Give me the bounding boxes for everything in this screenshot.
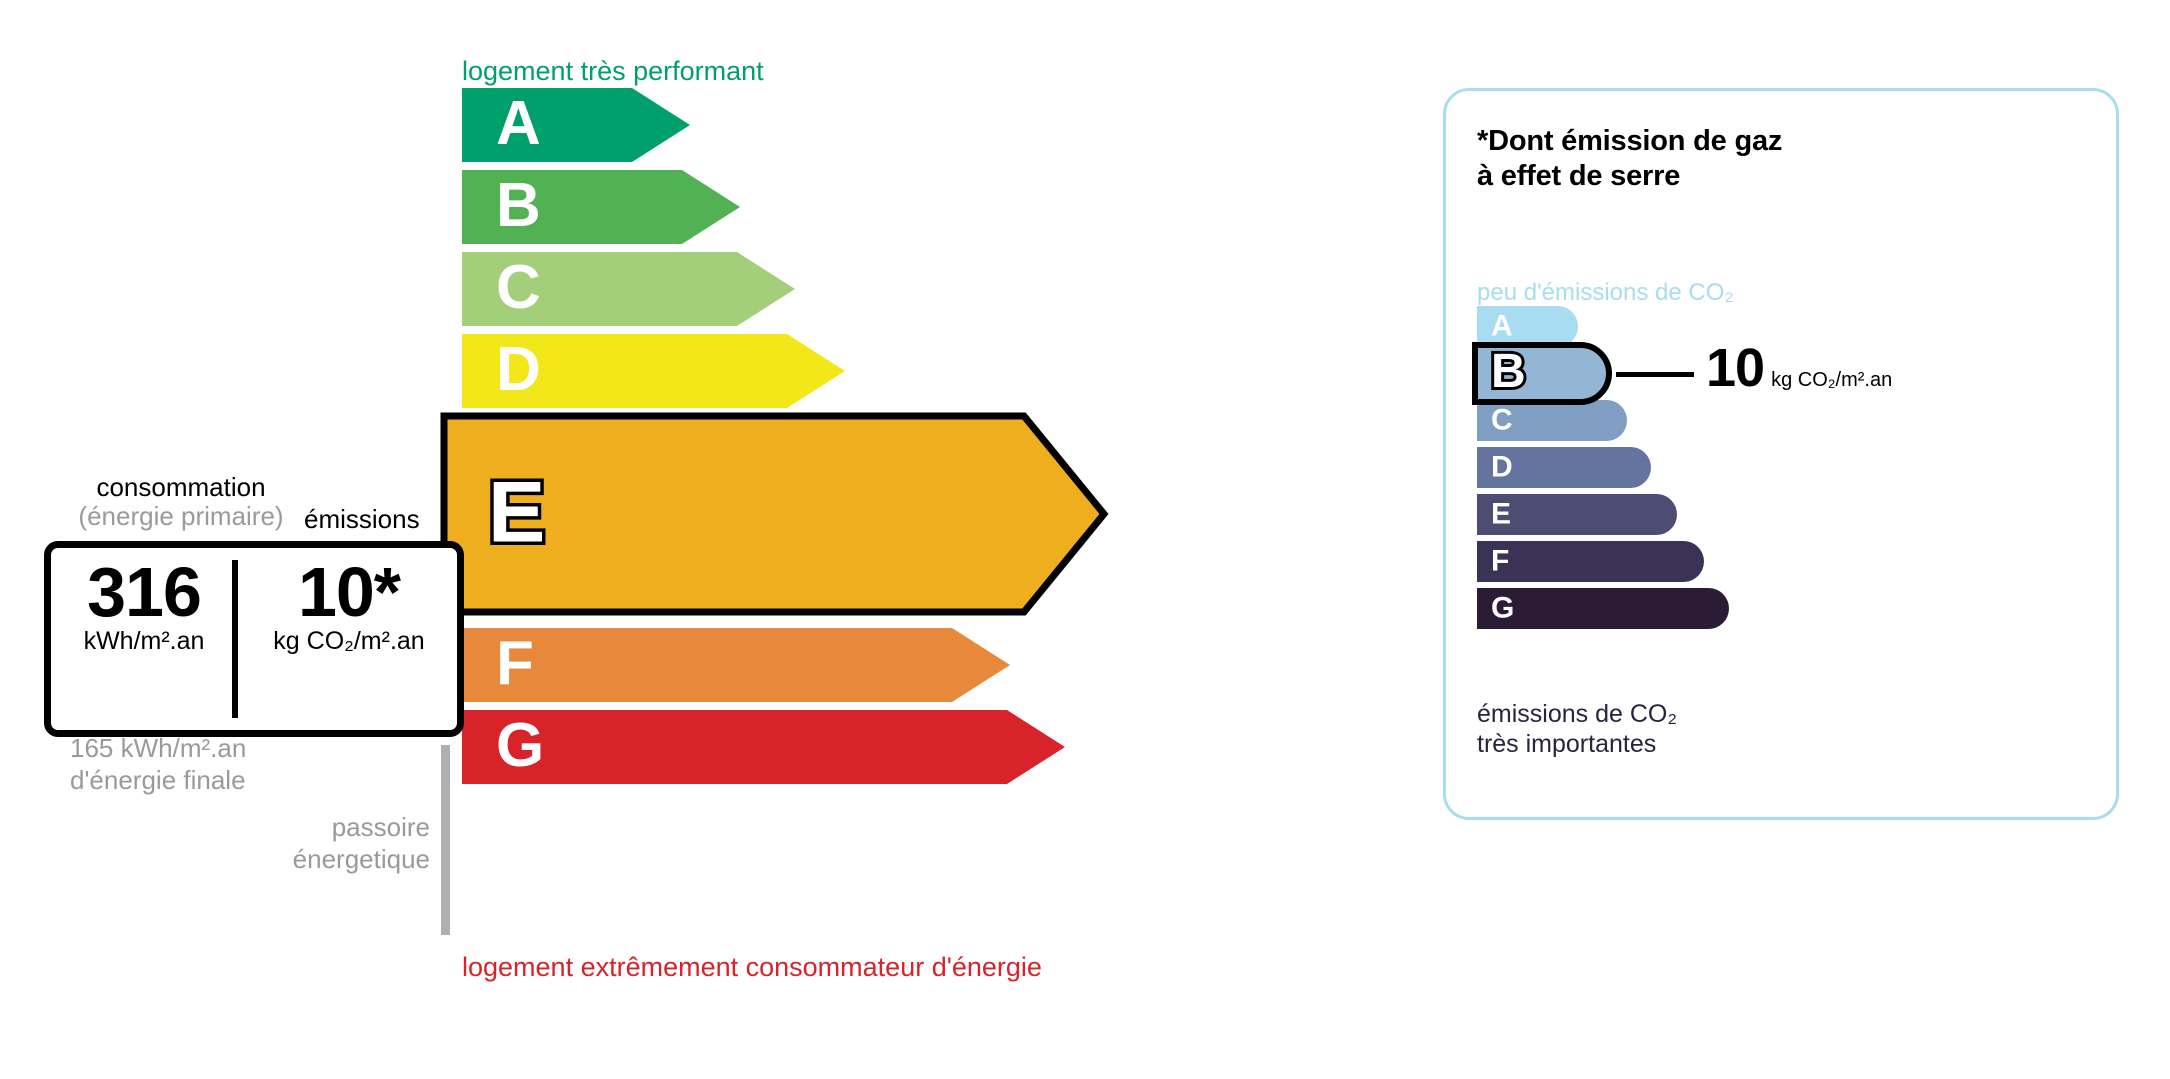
co2-bar-f: F [1477, 541, 1704, 582]
co2-selected-bar-b: B [1472, 342, 1612, 405]
consumption-unit: kWh/m².an [51, 628, 237, 656]
energy-band-b: B [462, 170, 740, 244]
final-energy-line2: d'énergie finale [70, 765, 246, 797]
emissions-unit: kg CO₂/m².an [256, 628, 442, 656]
values-box: 316 kWh/m².an 10* kg CO₂/m².an [44, 541, 464, 737]
co2-bar-letter-e: E [1491, 499, 1511, 529]
energy-scale-bottom-caption: logement extrêmement consommateur d'éner… [462, 952, 1042, 983]
co2-bar-a: A [1477, 306, 1578, 347]
co2-bar-letter-c: C [1491, 405, 1513, 435]
co2-panel-title: *Dont émission de gaz à effet de serre [1477, 124, 1782, 194]
co2-emissions-panel: *Dont émission de gaz à effet de serre p… [1443, 88, 2119, 820]
energy-band-shape-f [462, 628, 1020, 712]
consumption-value-cell: 316 kWh/m².an [51, 556, 237, 655]
energy-band-letter-g: G [496, 715, 544, 777]
co2-top-caption: peu d'émissions de CO₂ [1477, 279, 1734, 307]
co2-bar-g: G [1477, 588, 1729, 629]
co2-bar-letter-f: F [1491, 546, 1509, 576]
energy-performance-scale: logement très performant ABCDEFG consomm… [0, 0, 1400, 1079]
energy-band-f: F [462, 628, 1010, 702]
co2-bar-c: C [1477, 400, 1627, 441]
energy-band-d: D [462, 334, 845, 408]
passoire-line1: passoire [280, 812, 430, 844]
consumption-header-line2: (énergie primaire) [65, 502, 297, 531]
co2-title-line1: *Dont émission de gaz [1477, 124, 1782, 159]
energy-band-letter-e: E [488, 469, 545, 555]
passoire-energetique-label: passoire énergetique [280, 812, 430, 875]
co2-bar-letter-g: G [1491, 593, 1514, 623]
co2-bar-letter-d: D [1491, 452, 1513, 482]
energy-band-e: E [444, 416, 1104, 612]
passoire-bracket [441, 745, 450, 935]
final-energy-line1: 165 kWh/m².an [70, 733, 246, 765]
consumption-header-line1: consommation [65, 473, 297, 502]
energy-scale-top-caption: logement très performant [462, 56, 764, 87]
emissions-header: émissions [304, 505, 420, 534]
energy-band-shape-g [462, 710, 1075, 794]
final-energy-note: 165 kWh/m².an d'énergie finale [70, 733, 246, 796]
co2-leader-line [1616, 372, 1694, 377]
energy-band-letter-b: B [496, 175, 541, 237]
co2-value-group: 10kg CO₂/m².an [1706, 337, 1892, 399]
co2-bar-e: E [1477, 494, 1677, 535]
co2-unit: kg CO₂/m².an [1771, 369, 1892, 391]
energy-band-letter-c: C [496, 257, 541, 319]
passoire-line2: énergetique [280, 844, 430, 876]
consumption-value: 316 [51, 556, 237, 630]
energy-band-g: G [462, 710, 1065, 784]
co2-bottom-caption-line1: émissions de CO₂ [1477, 699, 1677, 729]
co2-bottom-caption: émissions de CO₂ très importantes [1477, 699, 1677, 759]
co2-bar-d: D [1477, 447, 1651, 488]
energy-band-letter-d: D [496, 339, 541, 401]
values-box-divider [232, 560, 238, 718]
energy-band-letter-f: F [496, 633, 534, 695]
co2-title-line2: à effet de serre [1477, 159, 1782, 194]
consumption-header: consommation (énergie primaire) [65, 473, 297, 531]
energy-band-c: C [462, 252, 795, 326]
co2-bar-letter-a: A [1491, 311, 1513, 341]
co2-selected-bar-letter: B [1491, 348, 1526, 396]
energy-band-a: A [462, 88, 690, 162]
emissions-value-cell: 10* kg CO₂/m².an [256, 556, 442, 655]
energy-band-letter-a: A [496, 93, 541, 155]
co2-value: 10 [1706, 338, 1764, 398]
co2-bottom-caption-line2: très importantes [1477, 729, 1677, 759]
emissions-value: 10* [256, 556, 442, 630]
